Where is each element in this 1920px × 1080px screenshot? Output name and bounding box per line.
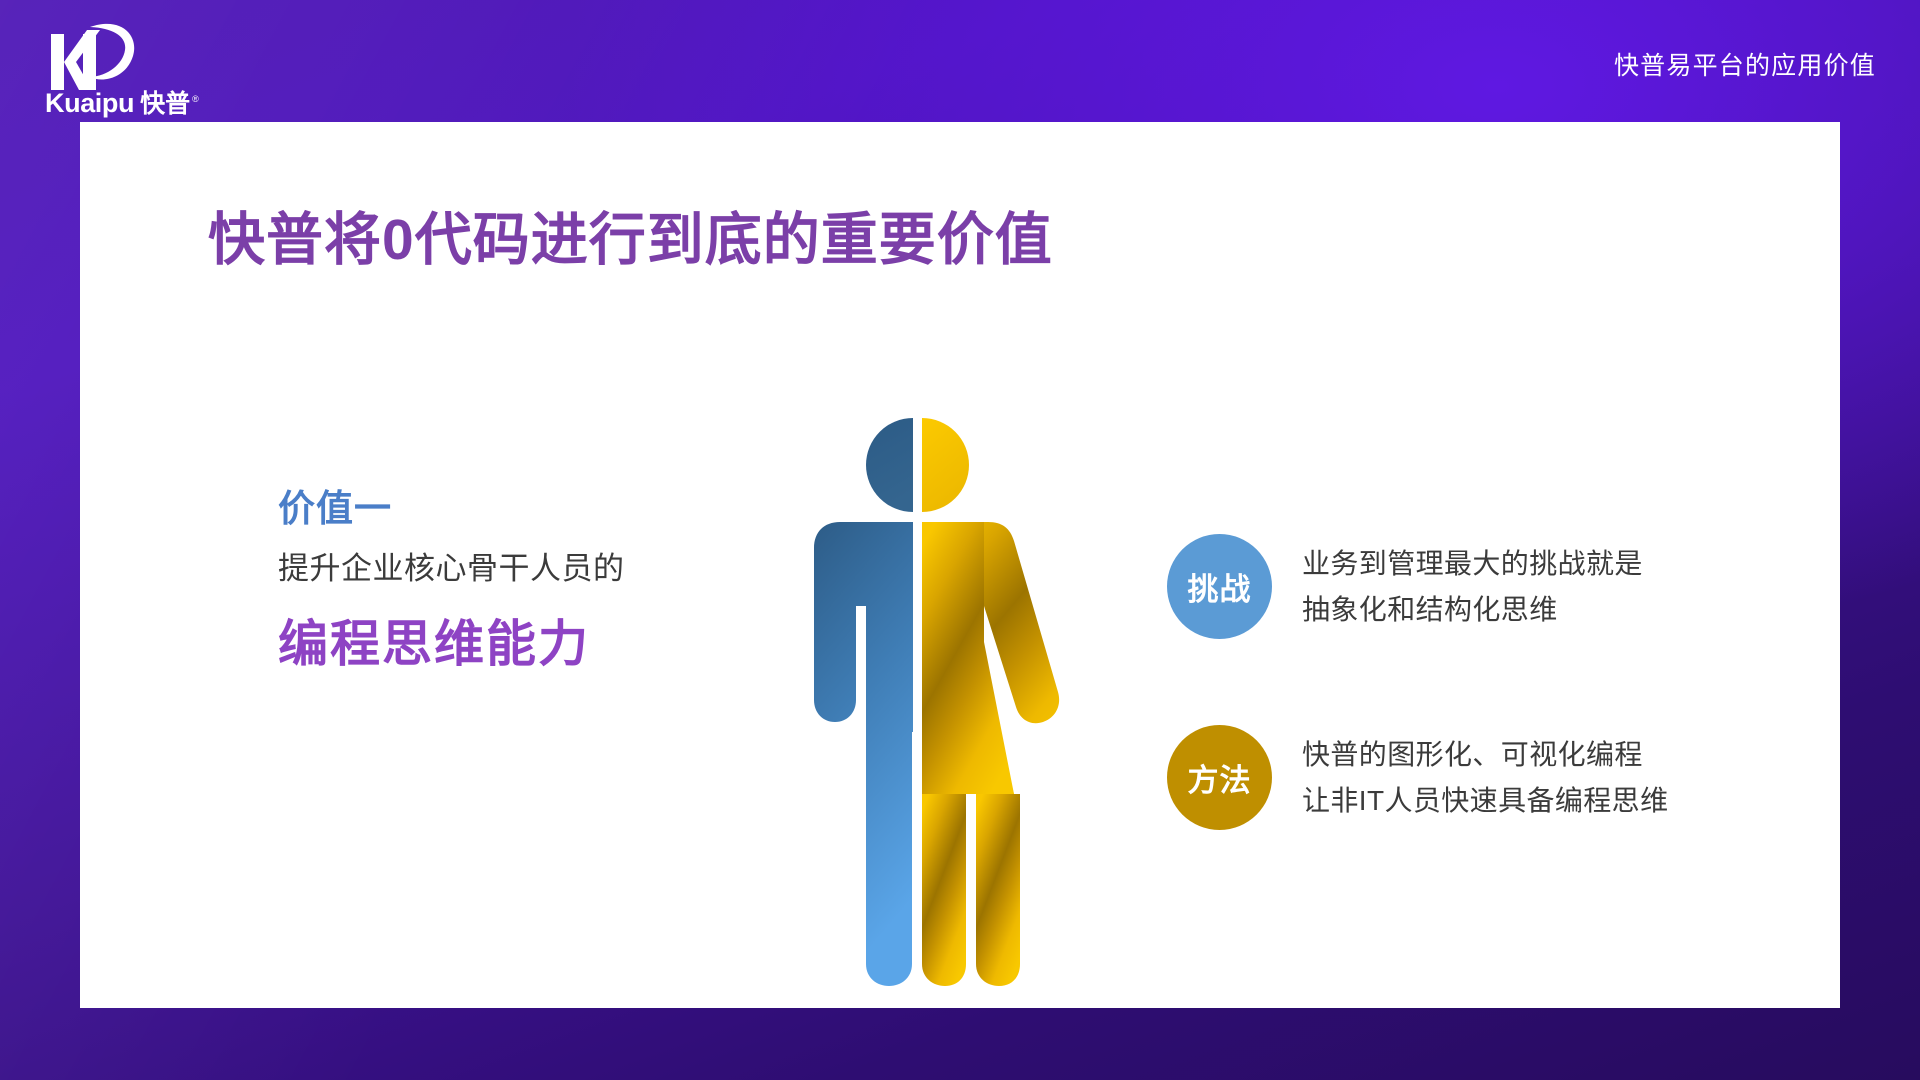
slide-root: Kuaipu 快普 ® 快普易平台的应用价值 快普将0代码进行到底的重要价值 价…: [0, 0, 1920, 1080]
value-subtitle: 提升企业核心骨干人员的: [278, 550, 708, 589]
brand-registered-mark: ®: [192, 95, 199, 104]
header-caption: 快普易平台的应用价值: [1614, 46, 1876, 82]
point-text-challenge: 业务到管理最大的挑战就是 抽象化和结构化思维: [1302, 541, 1643, 632]
content-card: 快普将0代码进行到底的重要价值 价值一 提升企业核心骨干人员的 编程思维能力: [80, 122, 1840, 1008]
point-line: 抽象化和结构化思维: [1302, 587, 1643, 632]
point-line: 快普的图形化、可视化编程: [1302, 732, 1668, 777]
brand-chinese-text: 快普: [140, 92, 190, 117]
kuaipu-kp-logo-icon: [38, 18, 188, 96]
badge-method: 方法: [1167, 725, 1272, 830]
point-row-challenge: 挑战 业务到管理最大的挑战就是 抽象化和结构化思维: [1167, 534, 1787, 639]
brand-wordmark: Kuaipu 快普 ®: [45, 90, 199, 117]
badge-challenge: 挑战: [1167, 534, 1272, 639]
point-text-method: 快普的图形化、可视化编程 让非IT人员快速具备编程思维: [1302, 732, 1668, 823]
page-title: 快普将0代码进行到底的重要价值: [208, 194, 1053, 276]
brand-logo[interactable]: Kuaipu 快普 ®: [38, 18, 188, 128]
value-block: 价值一 提升企业核心骨干人员的 编程思维能力: [278, 489, 708, 674]
point-row-method: 方法 快普的图形化、可视化编程 让非IT人员快速具备编程思维: [1167, 725, 1787, 830]
male-female-split-figure-icon: [770, 410, 1060, 990]
value-eyebrow: 价值一: [278, 489, 708, 530]
value-headline: 编程思维能力: [278, 616, 708, 674]
point-line: 业务到管理最大的挑战就是: [1302, 541, 1643, 586]
point-line: 让非IT人员快速具备编程思维: [1302, 778, 1668, 823]
brand-latin-text: Kuaipu: [45, 90, 134, 117]
points-list: 挑战 业务到管理最大的挑战就是 抽象化和结构化思维 方法 快普的图形化、可视化编…: [1167, 534, 1787, 830]
